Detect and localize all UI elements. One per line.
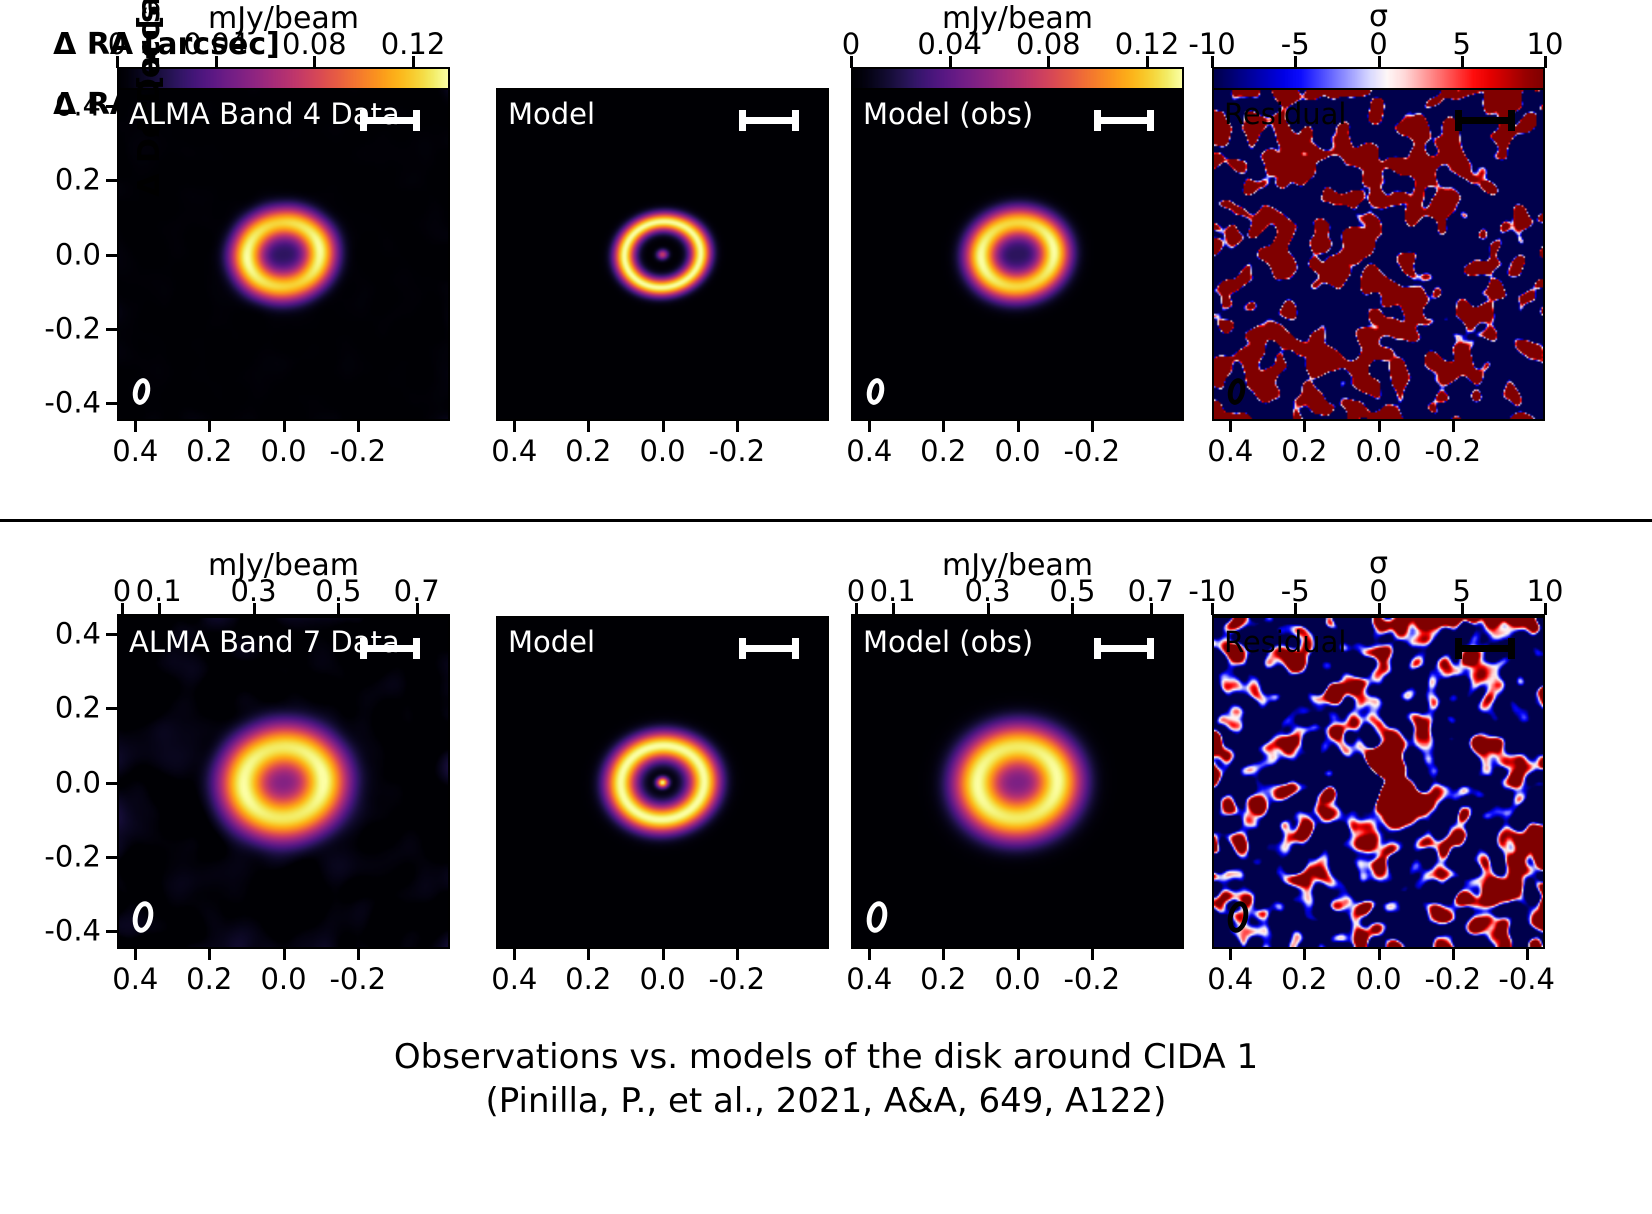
image-band4-model bbox=[498, 90, 827, 419]
xticklabel-band7-data: 0.4 bbox=[112, 965, 158, 994]
yticklabel-band7-data: 0.2 bbox=[9, 694, 101, 723]
ytick-band4-data bbox=[106, 105, 117, 108]
image-band4-model-obs bbox=[853, 90, 1182, 419]
caption-line-1: Observations vs. models of the disk arou… bbox=[0, 1036, 1652, 1080]
xtick-band7-model bbox=[736, 949, 739, 960]
colorbar-band4-flux-ticklabel: 0 bbox=[108, 30, 126, 59]
xtick-band7-data bbox=[208, 949, 211, 960]
colorbar-band7-flux-ticklabel: 0.3 bbox=[230, 577, 276, 606]
colorbar-band4-flux-ticklabel: 0.12 bbox=[381, 30, 446, 59]
xticklabel-band7-model-obs: 0.0 bbox=[994, 965, 1040, 994]
xticklabel-band7-model: -0.2 bbox=[708, 965, 765, 994]
row-divider bbox=[0, 519, 1652, 522]
xticklabel-band7-model: 0.4 bbox=[491, 965, 537, 994]
xtick-band7-model bbox=[662, 949, 665, 960]
xtick-band7-model bbox=[513, 949, 516, 960]
xticklabel-band4-model-obs: -0.2 bbox=[1063, 437, 1120, 466]
caption-line-2: (Pinilla, P., et al., 2021, A&A, 649, A1… bbox=[0, 1080, 1652, 1124]
yticklabel-band4-data: -0.2 bbox=[9, 314, 101, 343]
xtick-band4-data bbox=[283, 421, 286, 432]
xticklabel-band4-residual: 0.2 bbox=[1281, 437, 1327, 466]
colorbar-band7-residual-ticklabel: -10 bbox=[1188, 577, 1235, 606]
colorbar-band7-modelobs-ticklabel: 0.5 bbox=[1049, 577, 1095, 606]
colorbar-band7-residual-ticklabel: 5 bbox=[1453, 577, 1471, 606]
xtick-band4-model bbox=[587, 421, 590, 432]
ytick-band4-data bbox=[106, 402, 117, 405]
ytick-band4-data bbox=[106, 328, 117, 331]
panel-band7-model-obs: Model (obs) bbox=[851, 616, 1184, 949]
xticklabel-band4-data: 0.0 bbox=[260, 437, 306, 466]
image-band7-residual bbox=[1214, 618, 1543, 947]
colorbar-band7-modelobs-ticklabel: 0.7 bbox=[1128, 577, 1174, 606]
image-band7-model-obs bbox=[853, 618, 1182, 947]
image-band7-model bbox=[498, 618, 827, 947]
xtick-band7-data bbox=[357, 949, 360, 960]
colorbar-band4-residual-ticklabel: 10 bbox=[1527, 30, 1564, 59]
xticklabel-band4-model: -0.2 bbox=[708, 437, 765, 466]
xticklabel-band4-model: 0.2 bbox=[565, 437, 611, 466]
yticklabel-band4-data: 0.4 bbox=[9, 92, 101, 121]
scalebar-band4-data bbox=[360, 117, 420, 124]
panel-label-band4-residual: Residual bbox=[1224, 97, 1346, 131]
xtick-band4-data bbox=[208, 421, 211, 432]
colorbar-band7-residual-ticklabel: 0 bbox=[1369, 577, 1387, 606]
xtick-band7-model-obs bbox=[942, 949, 945, 960]
yticklabel-band7-data: 0.0 bbox=[9, 768, 101, 797]
xtick-band7-residual bbox=[1526, 949, 1529, 960]
xtick-band4-model-obs bbox=[1017, 421, 1020, 432]
xticklabel-band4-data: 0.4 bbox=[112, 437, 158, 466]
xticklabel-band4-residual: 0.4 bbox=[1207, 437, 1253, 466]
image-band4-data bbox=[119, 90, 448, 419]
xticklabel-band4-model-obs: 0.2 bbox=[920, 437, 966, 466]
xtick-band4-model bbox=[736, 421, 739, 432]
xticklabel-band7-residual: -0.2 bbox=[1424, 965, 1481, 994]
colorbar-band4-modelobs-ticklabel: 0.08 bbox=[1016, 30, 1081, 59]
xtick-band7-residual bbox=[1378, 949, 1381, 960]
yticklabel-band7-data: -0.2 bbox=[9, 842, 101, 871]
colorbar-band7-residual-ticklabel: -5 bbox=[1281, 577, 1310, 606]
colorbar-band4-modelobs-ticklabel: 0.04 bbox=[917, 30, 982, 59]
xtick-band4-data bbox=[357, 421, 360, 432]
scalebar-band7-data bbox=[360, 645, 420, 652]
panel-band4-model-obs: Model (obs) bbox=[851, 88, 1184, 421]
xticklabel-band4-residual: -0.2 bbox=[1424, 437, 1481, 466]
xtick-band7-model-obs bbox=[1017, 949, 1020, 960]
yticklabel-band4-data: 0.0 bbox=[9, 240, 101, 269]
panel-label-band4-model-obs: Model (obs) bbox=[863, 97, 1033, 131]
panel-label-band7-model-obs: Model (obs) bbox=[863, 625, 1033, 659]
panel-band4-model: Model bbox=[496, 88, 829, 421]
yticklabel-band4-data: -0.4 bbox=[9, 388, 101, 417]
xticklabel-band4-model: 0.0 bbox=[639, 437, 685, 466]
image-band4-residual bbox=[1214, 90, 1543, 419]
xticklabel-band7-data: 0.2 bbox=[186, 965, 232, 994]
image-band7-data bbox=[119, 618, 448, 947]
panel-label-band7-residual: Residual bbox=[1224, 625, 1346, 659]
colorbar-band7-flux-ticklabel: 0.5 bbox=[315, 577, 361, 606]
xticklabel-band7-model-obs: 0.4 bbox=[846, 965, 892, 994]
panel-band4-residual: Residual bbox=[1212, 88, 1545, 421]
scalebar-band7-model bbox=[739, 645, 799, 652]
scalebar-band4-model bbox=[739, 117, 799, 124]
scalebar-band4-model-obs bbox=[1094, 117, 1154, 124]
xticklabel-band7-model-obs: -0.2 bbox=[1063, 965, 1120, 994]
xticklabel-band7-model: 0.2 bbox=[565, 965, 611, 994]
panel-band7-residual: Residual bbox=[1212, 616, 1545, 949]
xtick-band7-data bbox=[283, 949, 286, 960]
yticklabel-band7-data: 0.4 bbox=[9, 620, 101, 649]
figure-root: mJy/beam 00.040.080.12 mJy/beam 00.040.0… bbox=[0, 0, 1652, 1214]
xtick-band4-data bbox=[134, 421, 137, 432]
xtick-band4-residual bbox=[1378, 421, 1381, 432]
xticklabel-band7-data: -0.2 bbox=[329, 965, 386, 994]
xticklabel-band4-model-obs: 0.4 bbox=[846, 437, 892, 466]
xtick-band4-model-obs bbox=[942, 421, 945, 432]
xticklabel-band4-model-obs: 0.0 bbox=[994, 437, 1040, 466]
colorbar-band7-flux-ticklabel: 0.7 bbox=[394, 577, 440, 606]
colorbar-band4-flux-ticklabel: 0.08 bbox=[282, 30, 347, 59]
colorbar-band7-modelobs-ticklabel: 0 bbox=[847, 577, 865, 606]
xtick-band7-model-obs bbox=[868, 949, 871, 960]
colorbar-band4-residual-ticklabel: 5 bbox=[1453, 30, 1471, 59]
panel-band7-data: ALMA Band 7 Data bbox=[117, 616, 450, 949]
colorbar-band4-modelobs-ticklabel: 0 bbox=[842, 30, 860, 59]
xticklabel-band7-residual: 0.0 bbox=[1355, 965, 1401, 994]
ytick-band7-data bbox=[106, 707, 117, 710]
xtick-band4-residual bbox=[1303, 421, 1306, 432]
panel-label-band7-model: Model bbox=[508, 625, 595, 659]
scalebar-band4-residual bbox=[1455, 117, 1515, 124]
ytick-band7-data bbox=[106, 856, 117, 859]
xticklabel-band7-residual: 0.2 bbox=[1281, 965, 1327, 994]
ytick-band7-data bbox=[106, 930, 117, 933]
ytick-band4-data bbox=[106, 254, 117, 257]
yticklabel-band4-data: 0.2 bbox=[9, 166, 101, 195]
colorbar-band4-flux-ticklabel: 0.04 bbox=[183, 30, 248, 59]
figure-caption: Observations vs. models of the disk arou… bbox=[0, 1036, 1652, 1123]
panel-label-band4-model: Model bbox=[508, 97, 595, 131]
ytick-band4-data bbox=[106, 179, 117, 182]
colorbar-band4-modelobs-ticklabel: 0.12 bbox=[1115, 30, 1180, 59]
xtick-band4-model-obs bbox=[868, 421, 871, 432]
xtick-band7-data bbox=[134, 949, 137, 960]
colorbar-band4-residual-ticklabel: -5 bbox=[1281, 30, 1310, 59]
colorbar-band7-flux-ticklabel: 0 bbox=[113, 577, 131, 606]
xticklabel-band7-model-obs: 0.2 bbox=[920, 965, 966, 994]
xtick-band4-residual bbox=[1229, 421, 1232, 432]
xticklabel-band7-residual: 0.4 bbox=[1207, 965, 1253, 994]
xtick-band7-model-obs bbox=[1091, 949, 1094, 960]
scalebar-band7-residual bbox=[1455, 645, 1515, 652]
xticklabel-band7-model: 0.0 bbox=[639, 965, 685, 994]
xticklabel-band7-data: 0.0 bbox=[260, 965, 306, 994]
colorbar-band7-modelobs-ticklabel: 0.1 bbox=[870, 577, 916, 606]
xticklabel-band4-model: 0.4 bbox=[491, 437, 537, 466]
colorbar-band7-flux-ticklabel: 0.1 bbox=[136, 577, 182, 606]
xticklabel-band4-residual: 0.0 bbox=[1355, 437, 1401, 466]
xtick-band7-residual bbox=[1303, 949, 1306, 960]
xtick-band4-residual bbox=[1452, 421, 1455, 432]
colorbar-band7-residual-ticklabel: 10 bbox=[1527, 577, 1564, 606]
xtick-band4-model-obs bbox=[1091, 421, 1094, 432]
scalebar-band7-model-obs bbox=[1094, 645, 1154, 652]
ytick-band7-data bbox=[106, 782, 117, 785]
xticklabel-band4-data: -0.2 bbox=[329, 437, 386, 466]
panel-band7-model: Model bbox=[496, 616, 829, 949]
xtick-band4-model bbox=[662, 421, 665, 432]
xtick-band4-model bbox=[513, 421, 516, 432]
xtick-band7-residual bbox=[1452, 949, 1455, 960]
xticklabel-band7-residual: -0.4 bbox=[1498, 965, 1555, 994]
yticklabel-band7-data: -0.4 bbox=[9, 916, 101, 945]
ytick-band7-data bbox=[106, 633, 117, 636]
xtick-band7-model bbox=[587, 949, 590, 960]
xticklabel-band4-data: 0.2 bbox=[186, 437, 232, 466]
colorbar-band4-residual-ticklabel: -10 bbox=[1188, 30, 1235, 59]
colorbar-band4-residual-ticklabel: 0 bbox=[1369, 30, 1387, 59]
colorbar-band7-modelobs-ticklabel: 0.3 bbox=[964, 577, 1010, 606]
xtick-band7-residual bbox=[1229, 949, 1232, 960]
